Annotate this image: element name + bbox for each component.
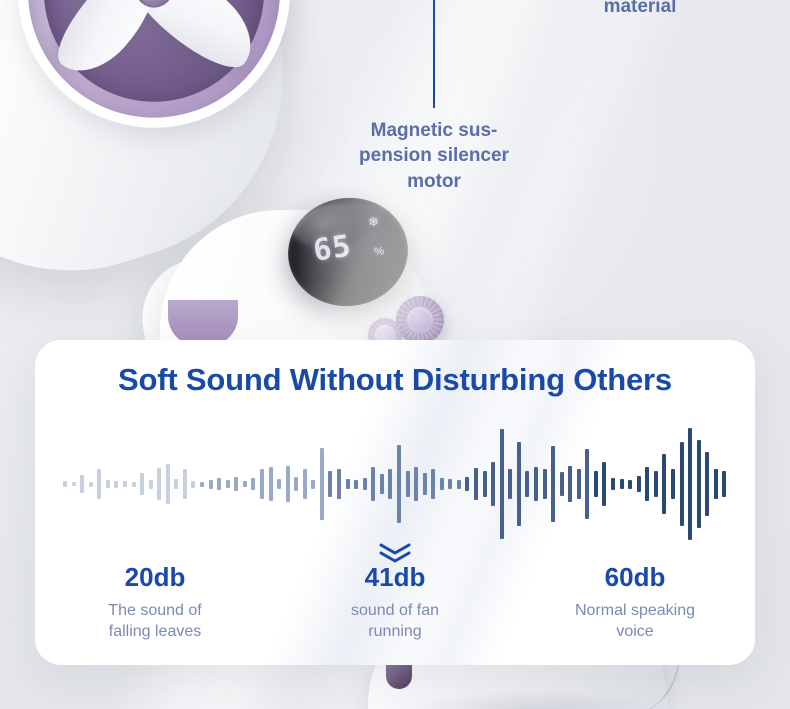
db-value: 20db <box>35 562 275 593</box>
waveform-bar <box>414 467 418 501</box>
page-title: Soft Sound Without Disturbing Others <box>35 362 755 398</box>
product-marketing-image: 65 ❄ % Magnetic sus- pension silencer mo… <box>0 0 790 709</box>
waveform-bar <box>654 471 658 497</box>
db-description: Normal speakingvoice <box>515 601 755 643</box>
callout-motor-line1: Magnetic sus- <box>328 118 540 143</box>
waveform-bar <box>209 480 213 489</box>
waveform-bar <box>166 464 170 504</box>
db-description-line1: The sound of <box>35 601 275 622</box>
db-description: The sound offalling leaves <box>35 601 275 643</box>
waveform-bar <box>114 481 118 488</box>
waveform-bar <box>328 471 332 497</box>
waveform-bar <box>620 479 624 489</box>
waveform-bar <box>303 469 307 499</box>
waveform-bar <box>406 471 410 497</box>
waveform-bar <box>311 480 315 489</box>
sound-waveform-chart <box>63 425 727 543</box>
waveform-bar <box>483 471 487 497</box>
waveform-bar <box>645 467 649 501</box>
waveform-bar <box>500 429 504 539</box>
waveform-bar <box>157 468 161 500</box>
waveform-bar <box>183 469 187 499</box>
waveform-bar <box>594 471 598 497</box>
waveform-bar <box>705 452 709 516</box>
waveform-bar <box>106 480 110 488</box>
callout-motor-line3: motor <box>328 169 540 194</box>
waveform-bar <box>534 467 538 501</box>
waveform-bar <box>217 478 221 490</box>
waveform-bar <box>277 479 281 489</box>
db-column-2: 41dbsound of fanrunning <box>275 562 515 643</box>
waveform-bar <box>174 479 178 489</box>
waveform-bar <box>611 478 615 490</box>
waveform-bar <box>191 481 195 488</box>
db-value: 41db <box>275 562 515 593</box>
waveform-bar <box>585 449 589 519</box>
waveform-bar <box>80 475 84 493</box>
waveform-bar <box>525 471 529 497</box>
waveform-bar <box>602 462 606 506</box>
waveform-bar <box>671 469 675 499</box>
waveform-bar <box>662 454 666 514</box>
db-description-line2: falling leaves <box>35 622 275 643</box>
callout-motor: Magnetic sus- pension silencer motor <box>328 118 540 194</box>
waveform-bar <box>474 468 478 500</box>
waveform-bar <box>448 479 452 489</box>
db-value: 60db <box>515 562 755 593</box>
waveform-bar <box>251 478 255 490</box>
waveform-bar <box>714 469 718 499</box>
waveform-bar <box>132 482 136 487</box>
waveform-bar <box>346 479 350 489</box>
waveform-bar <box>354 480 358 489</box>
waveform-bar <box>123 481 127 487</box>
led-value: 65 <box>312 232 354 267</box>
waveform-bar <box>568 466 572 502</box>
control-knob-large <box>396 296 444 344</box>
waveform-bar <box>680 442 684 526</box>
waveform-bar <box>440 478 444 490</box>
waveform-bar <box>637 476 641 492</box>
waveform-bar <box>234 477 238 491</box>
waveform-bar <box>560 472 564 496</box>
waveform-bar <box>431 469 435 499</box>
callout-material: material <box>556 0 724 19</box>
waveform-bar <box>491 462 495 506</box>
waveform-bar <box>423 473 427 495</box>
waveform-bar <box>89 482 93 487</box>
waveform-bar <box>200 482 204 487</box>
waveform-bar <box>517 442 521 526</box>
snowflake-icon: ❄ <box>367 213 380 230</box>
waveform-bar <box>243 481 247 487</box>
waveform-bar <box>371 467 375 501</box>
waveform-bar <box>226 480 230 488</box>
waveform-bar <box>508 469 512 499</box>
db-description-line2: running <box>275 622 515 643</box>
waveform-bar <box>551 446 555 522</box>
waveform-bar <box>97 469 101 499</box>
callout-motor-line2: pension silencer <box>328 143 540 168</box>
waveform-bar <box>388 469 392 499</box>
waveform-bar <box>457 480 461 489</box>
db-description-line1: sound of fan <box>275 601 515 622</box>
waveform-bar <box>465 477 469 491</box>
waveform-bar <box>337 469 341 499</box>
waveform-bar <box>320 448 324 520</box>
db-description-line1: Normal speaking <box>515 601 755 622</box>
waveform-bar <box>363 478 367 490</box>
waveform-bar <box>628 480 632 489</box>
db-description-line2: voice <box>515 622 755 643</box>
db-columns: 20dbThe sound offalling leaves41dbsound … <box>35 562 755 643</box>
db-column-3: 60dbNormal speakingvoice <box>515 562 755 643</box>
db-description: sound of fanrunning <box>275 601 515 643</box>
callout-leader-line <box>433 0 435 108</box>
waveform-bar <box>543 469 547 499</box>
waveform-bar <box>380 474 384 494</box>
waveform-bar <box>294 477 298 491</box>
waveform-bar <box>269 467 273 501</box>
percent-symbol: % <box>373 245 384 258</box>
waveform-bar <box>63 481 67 487</box>
waveform-bar <box>397 445 401 523</box>
waveform-bar <box>688 428 692 540</box>
waveform-bar <box>697 440 701 528</box>
waveform-bar <box>260 469 264 499</box>
sound-info-card: Soft Sound Without Disturbing Others 20d… <box>35 340 755 665</box>
waveform-bar <box>722 471 726 497</box>
waveform-bar <box>72 482 76 486</box>
knob-cap <box>407 307 434 334</box>
db-column-1: 20dbThe sound offalling leaves <box>35 562 275 643</box>
waveform-bar <box>577 469 581 499</box>
waveform-bar <box>149 480 153 489</box>
waveform-bar <box>286 466 290 502</box>
waveform-bar <box>140 473 144 495</box>
